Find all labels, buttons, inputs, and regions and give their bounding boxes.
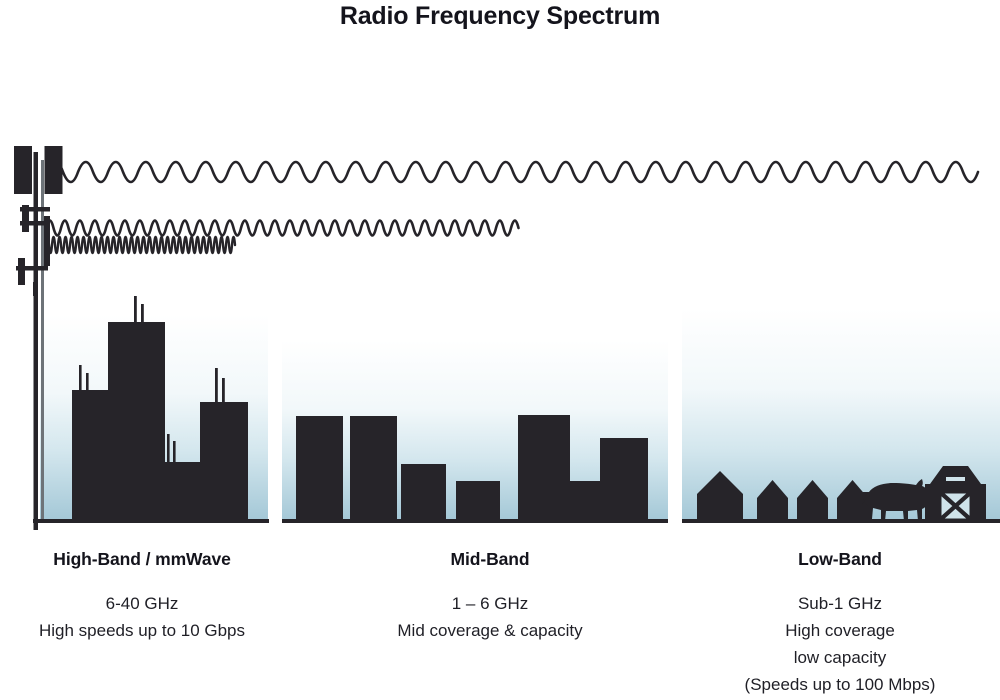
building [200, 402, 248, 520]
mid-band-wave [46, 221, 519, 236]
spire [167, 434, 170, 464]
building [518, 415, 570, 520]
barn-hayloft-vent [946, 477, 965, 481]
building [163, 462, 205, 520]
building [456, 481, 500, 520]
low-band-wave [48, 162, 978, 182]
band-desc-line: Sub-1 GHz [690, 590, 990, 617]
building [350, 416, 397, 520]
band-desc-line: High coverage [690, 617, 990, 644]
building [108, 322, 165, 520]
building [296, 416, 343, 520]
band-label-mid-band: Mid-Band [340, 549, 640, 570]
building [568, 481, 601, 520]
spire [134, 296, 137, 326]
spire [215, 368, 218, 404]
infographic-canvas: Radio Frequency Spectrum [0, 0, 1000, 700]
band-desc-line: High speeds up to 10 Gbps [0, 617, 284, 644]
band-desc-line: (Speeds up to 100 Mbps) [690, 671, 990, 698]
band-description-mid-band: 1 – 6 GHz Mid coverage & capacity [340, 590, 640, 644]
band-desc-line: 6-40 GHz [0, 590, 284, 617]
band-desc-line: Mid coverage & capacity [340, 617, 640, 644]
band-desc-line: 1 – 6 GHz [340, 590, 640, 617]
band-label-low-band: Low-Band [690, 549, 990, 570]
building [401, 464, 446, 520]
spire [222, 378, 225, 404]
band-description-low-band: Sub-1 GHz High coverage low capacity (Sp… [690, 590, 990, 698]
band-description-high-band: 6-40 GHz High speeds up to 10 Gbps [0, 590, 284, 644]
spire [79, 365, 82, 393]
radio-waves [46, 162, 978, 253]
high-band-wave [46, 237, 235, 253]
band-label-high-band: High-Band / mmWave [0, 549, 284, 570]
spire [173, 441, 176, 464]
band-desc-line: low capacity [690, 644, 990, 671]
building [600, 438, 648, 520]
ground-line [33, 519, 1000, 523]
